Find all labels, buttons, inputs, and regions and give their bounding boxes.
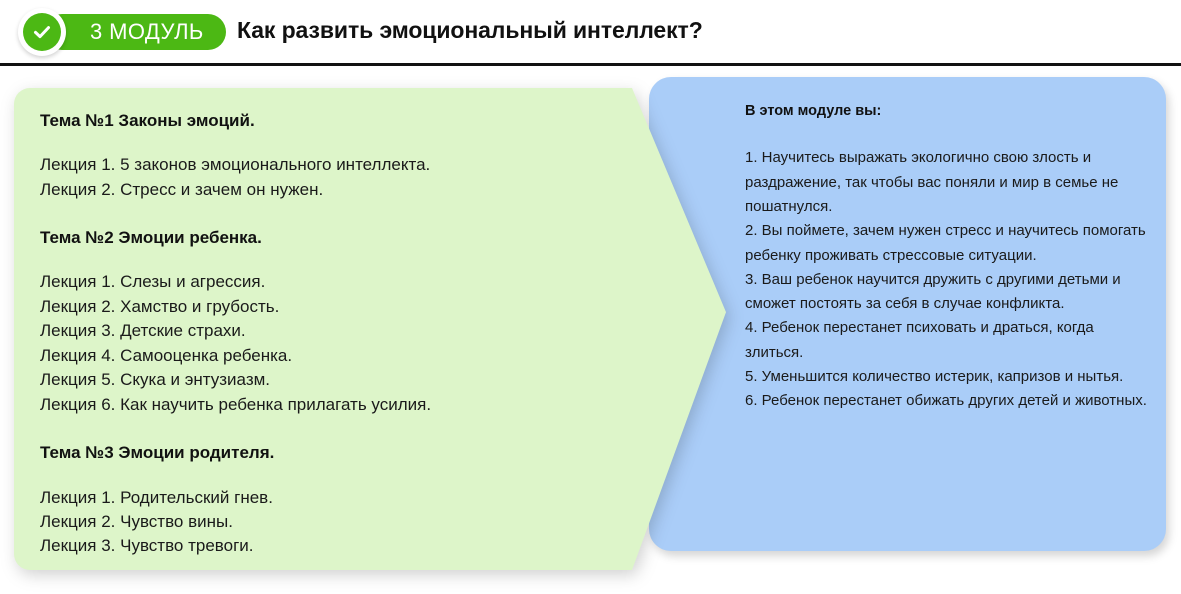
list-item: Лекция 3. Детские страхи. xyxy=(40,319,630,343)
list-item: Лекция 2. Хамство и грубость. xyxy=(40,295,630,319)
list-item: 5. Уменьшится количество истерик, каприз… xyxy=(745,365,1150,389)
list-item: Лекция 1. Слезы и агрессия. xyxy=(40,270,630,294)
list-item: Лекция 4. Самооценка ребенка. xyxy=(40,344,630,368)
list-item: Лекция 1. 5 законов эмоционального интел… xyxy=(40,153,630,177)
topic-title: Тема №3 Эмоции родителя. xyxy=(40,442,630,463)
outcomes-content: В этом модуле вы: 1. Научитесь выражать … xyxy=(745,103,1150,414)
spacer xyxy=(40,131,630,153)
slide-header: 3 МОДУЛЬ Как развить эмоциональный интел… xyxy=(0,0,1181,72)
check-circle-icon-fill xyxy=(23,13,61,51)
outcomes-heading: В этом модуле вы: xyxy=(745,103,1150,120)
list-item: Лекция 1. Родительский гнев. xyxy=(40,486,630,510)
outcomes-panel: В этом модуле вы: 1. Научитесь выражать … xyxy=(649,77,1166,551)
spacer xyxy=(40,248,630,270)
page-title: Как развить эмоциональный интеллект? xyxy=(237,0,703,60)
topic-title: Тема №1 Законы эмоций. xyxy=(40,110,630,131)
list-item: Лекция 2. Чувство вины. xyxy=(40,510,630,534)
lecture-list: Лекция 1. Родительский гнев. Лекция 2. Ч… xyxy=(40,486,630,559)
spacer xyxy=(40,464,630,486)
list-item: 3. Ваш ребенок научится дружить с другим… xyxy=(745,268,1150,317)
spacer xyxy=(40,202,630,227)
module-badge-label: 3 МОДУЛЬ xyxy=(90,21,204,43)
list-item: Лекция 2. Стресс и зачем он нужен. xyxy=(40,178,630,202)
list-item: 4. Ребенок перестанет психовать и дратьс… xyxy=(745,316,1150,365)
slide-canvas: 3 МОДУЛЬ Как развить эмоциональный интел… xyxy=(0,0,1181,594)
list-item: Лекция 3. Чувство тревоги. xyxy=(40,534,630,558)
topic-title: Тема №2 Эмоции ребенка. xyxy=(40,227,630,248)
spacer xyxy=(40,417,630,442)
module-badge-pill: 3 МОДУЛЬ xyxy=(44,14,226,50)
list-item: Лекция 6. Как научить ребенка прилагать … xyxy=(40,393,630,417)
curriculum-content: Тема №1 Законы эмоций. Лекция 1. 5 закон… xyxy=(40,110,630,559)
lecture-list: Лекция 1. 5 законов эмоционального интел… xyxy=(40,153,630,202)
curriculum-panel: Тема №1 Законы эмоций. Лекция 1. 5 закон… xyxy=(14,88,726,570)
list-item: 2. Вы поймете, зачем нужен стресс и науч… xyxy=(745,219,1150,268)
header-divider xyxy=(0,63,1181,66)
lecture-list: Лекция 1. Слезы и агрессия. Лекция 2. Ха… xyxy=(40,270,630,417)
list-item: 1. Научитесь выражать экологично свою зл… xyxy=(745,146,1150,219)
list-item: 6. Ребенок перестанет обижать других дет… xyxy=(745,389,1150,413)
outcomes-list: 1. Научитесь выражать экологично свою зл… xyxy=(745,146,1150,413)
list-item: Лекция 5. Скука и энтузиазм. xyxy=(40,368,630,392)
check-circle-icon xyxy=(18,8,66,56)
